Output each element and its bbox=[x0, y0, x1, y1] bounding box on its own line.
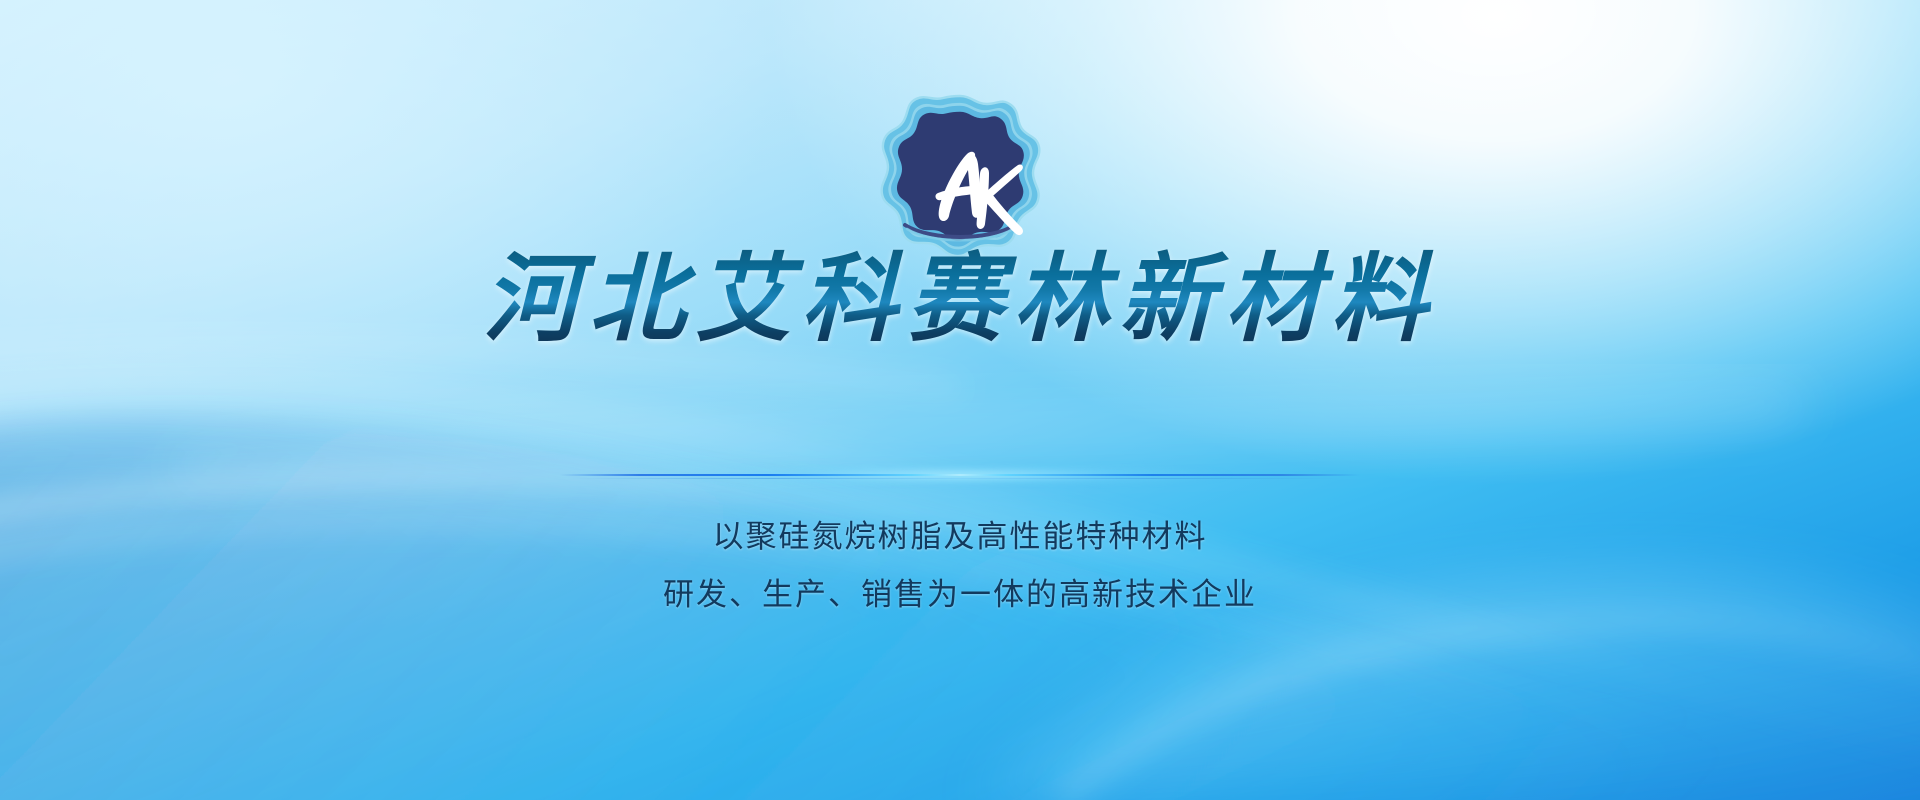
hero-banner: 河北艾科赛林新材料 以聚硅氮烷树脂及高性能特种材料 研发、生产、销售为一体的高新… bbox=[0, 0, 1920, 800]
title-divider bbox=[560, 466, 1360, 484]
subtitle-line-2: 研发、生产、销售为一体的高新技术企业 bbox=[0, 566, 1920, 624]
divider-core-line bbox=[560, 474, 1360, 476]
ak-monogram-badge bbox=[875, 92, 1045, 262]
subtitle-line-1: 以聚硅氮烷树脂及高性能特种材料 bbox=[0, 508, 1920, 566]
divider-hairline bbox=[576, 478, 1344, 479]
page-title: 河北艾科赛林新材料 bbox=[0, 246, 1920, 354]
subtitle-block: 以聚硅氮烷树脂及高性能特种材料 研发、生产、销售为一体的高新技术企业 bbox=[0, 508, 1920, 624]
